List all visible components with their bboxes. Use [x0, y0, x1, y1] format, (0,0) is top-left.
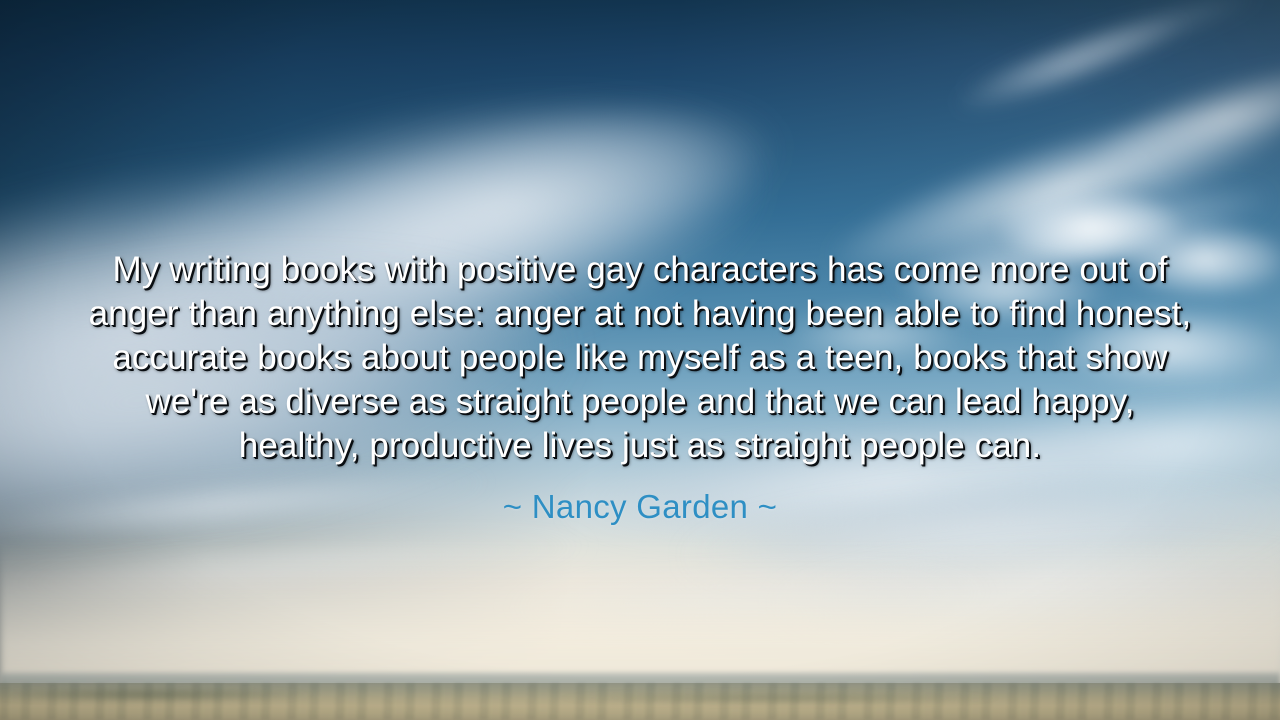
- quote-attribution: ~ Nancy Garden ~: [40, 487, 1240, 527]
- quote-wallpaper: My writing books with positive gay chara…: [0, 0, 1280, 720]
- quote-overlay: My writing books with positive gay chara…: [0, 248, 1280, 527]
- quote-body-text: My writing books with positive gay chara…: [85, 248, 1195, 468]
